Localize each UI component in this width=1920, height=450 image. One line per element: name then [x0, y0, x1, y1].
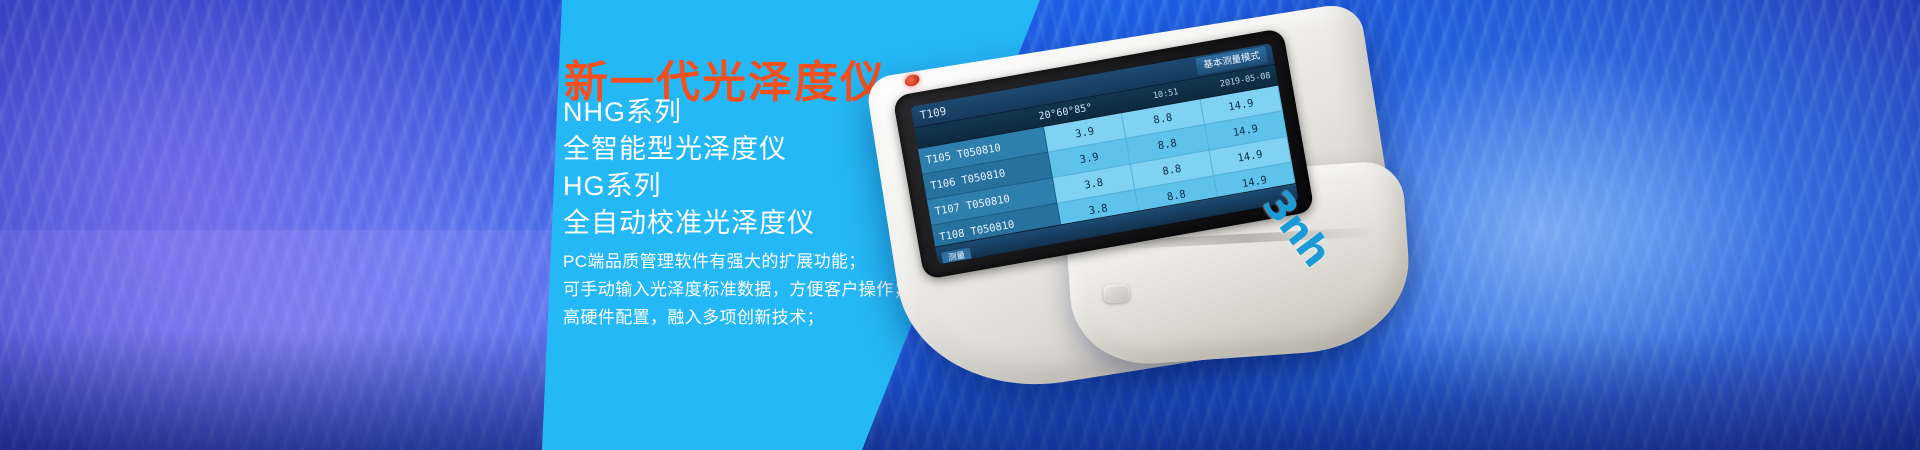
device-button[interactable]: [1103, 284, 1130, 304]
screen-title: T109: [919, 105, 947, 122]
gloss-meter-device: T109 基本测量模式 20° 60° 85° 10:51 2019-05-08…: [832, 0, 1448, 450]
header-angle-20: 20°: [1038, 108, 1058, 122]
banner-subtitle-3: HG系列: [563, 168, 815, 205]
banner-feature-list: PC端品质管理软件有强大的扩展功能； 可手动输入光泽度标准数据，方便客户操作； …: [563, 248, 911, 332]
header-angle-85: 85°: [1073, 102, 1093, 116]
banner-feature-1: PC端品质管理软件有强大的扩展功能；: [563, 248, 911, 276]
header-angle-60: 60°: [1056, 105, 1076, 119]
banner-subtitle-list: NHG系列 全智能型光泽度仪 HG系列 全自动校准光泽度仪: [563, 94, 815, 242]
banner-subtitle-2: 全智能型光泽度仪: [563, 131, 815, 168]
measure-button[interactable]: 测量: [941, 248, 972, 265]
banner-feature-2: 可手动输入光泽度标准数据，方便客户操作；: [563, 276, 911, 304]
product-banner: 新一代光泽度仪 NHG系列 全智能型光泽度仪 HG系列 全自动校准光泽度仪 PC…: [0, 0, 1920, 450]
banner-feature-3: 高硬件配置，融入多项创新技术；: [563, 304, 911, 332]
banner-subtitle-4: 全自动校准光泽度仪: [563, 205, 815, 242]
banner-subtitle-1: NHG系列: [563, 94, 815, 131]
